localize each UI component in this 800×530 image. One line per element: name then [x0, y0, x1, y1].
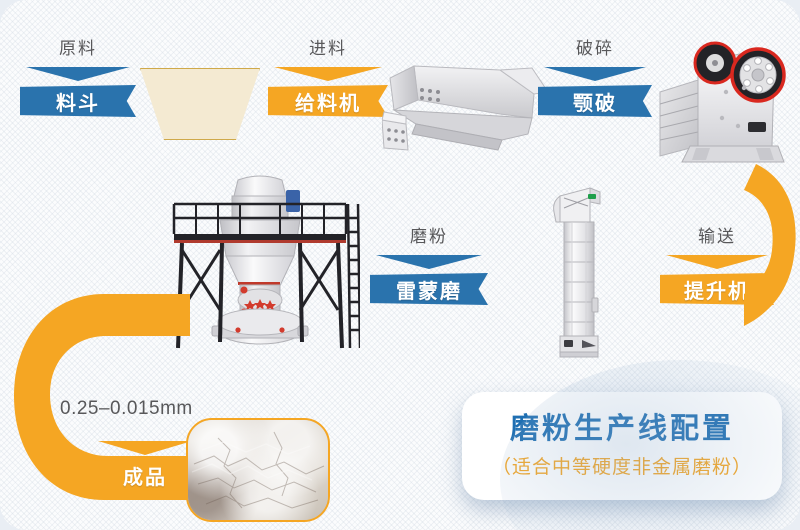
powder-product-photo [186, 418, 330, 522]
chevron-down-icon [20, 66, 136, 82]
chevron-down-icon [268, 66, 388, 82]
title-heading: 磨粉生产线配置 [510, 413, 734, 446]
step-label-raymond-mill[interactable]: 雷蒙磨 [370, 273, 488, 305]
step-label-product[interactable]: 成品 [92, 459, 198, 491]
chevron-down-icon [538, 66, 652, 82]
step-finished-product: 成品 [92, 440, 198, 491]
step-grinding: 磨粉 雷蒙磨 [370, 228, 488, 305]
step-label-feeder[interactable]: 给料机 [268, 85, 388, 117]
arc-right-flow-arrow [686, 152, 800, 332]
diagram-canvas: 原料 料斗 进料 给料机 [0, 0, 800, 530]
step-label-hopper[interactable]: 料斗 [20, 85, 136, 117]
step-caption: 进料 [268, 40, 388, 57]
hopper-graphic [140, 68, 260, 140]
bucket-elevator-graphic [544, 180, 616, 358]
step-raw-material: 原料 料斗 [20, 40, 136, 117]
step-caption: 磨粉 [370, 228, 488, 245]
chevron-down-icon [370, 254, 488, 270]
hopper-shape [140, 68, 260, 140]
title-subheading: （适合中等硬度非金属磨粉） [492, 452, 752, 479]
jaw-crusher-graphic [652, 30, 800, 170]
title-card: 磨粉生产线配置 （适合中等硬度非金属磨粉） [462, 392, 782, 500]
powder-texture [188, 420, 328, 520]
vibrating-feeder-graphic [382, 58, 552, 163]
step-caption: 原料 [20, 40, 136, 57]
chevron-down-icon [92, 440, 198, 456]
product-size-label: 0.25–0.015mm [60, 398, 193, 420]
step-label-jaw-crusher[interactable]: 颚破 [538, 85, 652, 117]
step-feeding: 进料 给料机 [268, 40, 388, 117]
step-crushing: 破碎 颚破 [538, 40, 652, 117]
step-caption: 破碎 [538, 40, 652, 57]
